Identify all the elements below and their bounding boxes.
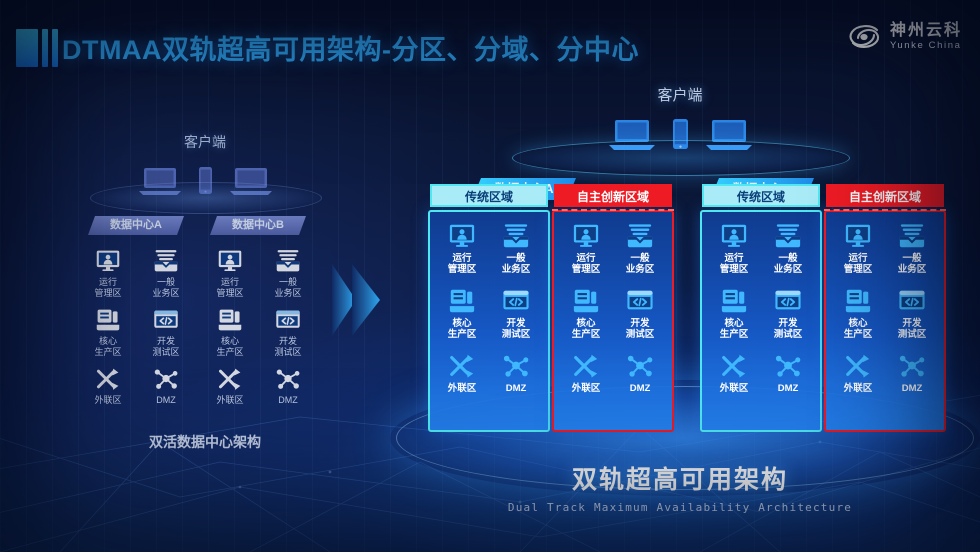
column-header: 传统区域 [702,184,820,207]
left-platform-ellipse [90,182,322,214]
node-cluster-icon [625,352,655,380]
column-header: 自主创新区域 [826,184,944,207]
zone-item[interactable]: 运行 管理区 [560,222,612,275]
zone-label: DMZ [506,383,527,394]
zone-label: DMZ [156,395,176,406]
left-datacenter-a-zones: 运行 管理区 一般 业务区 核心 生产区 开发 测试区 [82,248,192,406]
zone-label: 外联区 [94,395,121,406]
column-datacenter-b-innovation[interactable]: 自主创新区域 运行 管理区 一般 业务区 核心 生产区 [824,210,946,432]
zone-label: 核心 生产区 [94,336,121,358]
inbox-tray-icon [773,222,803,250]
zone-label: 一般 业务区 [502,253,531,275]
zone-label: 外联区 [844,383,873,394]
zone-item[interactable]: 运行 管理区 [436,222,488,275]
zone-label: 开发 测试区 [502,318,531,340]
zone-item[interactable]: 一般 业务区 [262,248,314,299]
monitor-person-icon [216,248,244,274]
inbox-tray-icon [501,222,531,250]
inbox-tray-icon [274,248,302,274]
zone-item[interactable]: 外联区 [708,352,760,394]
bottom-caption-en: Dual Track Maximum Availability Architec… [400,501,960,514]
zone-item[interactable]: DMZ [762,352,814,394]
zone-item[interactable]: 运行 管理区 [832,222,884,275]
zone-item[interactable]: 开发 测试区 [762,287,814,340]
slide-header: DTMAA双轨超高可用架构-分区、分域、分中心 神州云科 Yunke China [0,0,980,86]
zone-item[interactable]: 开发 测试区 [140,307,192,358]
zone-label: 一般 业务区 [274,277,301,299]
inbox-tray-icon [897,222,927,250]
node-cluster-icon [773,352,803,380]
zone-label: 一般 业务区 [898,253,927,275]
left-client-label: 客户端 [70,132,340,152]
zone-item[interactable]: 一般 业务区 [886,222,938,275]
bottom-caption: 双轨超高可用架构 Dual Track Maximum Availability… [400,460,960,514]
node-cluster-icon [501,352,531,380]
zone-label: DMZ [778,383,799,394]
zone-label: 外联区 [720,383,749,394]
column-datacenter-b-traditional[interactable]: 传统区域 运行 管理区 一般 业务区 核心 生产区 [700,210,822,432]
inbox-tray-icon [625,222,655,250]
bottom-caption-cn: 双轨超高可用架构 [400,460,960,496]
zone-label: 外联区 [572,383,601,394]
zone-item[interactable]: 外联区 [832,352,884,394]
zone-label: 运行 管理区 [94,277,121,299]
zone-item[interactable]: 外联区 [82,366,134,406]
zone-label: 外联区 [216,395,243,406]
zone-label: 核心 生产区 [216,336,243,358]
code-window-icon [274,307,302,333]
monitor-person-icon [94,248,122,274]
node-cluster-icon [897,352,927,380]
galaxy-spiral-icon [847,22,881,52]
zone-grid: 运行 管理区 一般 业务区 核心 生产区 开发 测试区 [560,222,666,394]
zone-label: DMZ [278,395,298,406]
zone-label: DMZ [902,383,923,394]
zone-item[interactable]: DMZ [140,366,192,406]
zone-label: 运行 管理区 [448,253,477,275]
zone-label: 运行 管理区 [572,253,601,275]
node-cluster-icon [152,366,180,392]
zone-label: 运行 管理区 [844,253,873,275]
zone-item[interactable]: DMZ [614,352,666,394]
zone-item[interactable]: 开发 测试区 [886,287,938,340]
code-window-icon [152,307,180,333]
zone-item[interactable]: 一般 业务区 [614,222,666,275]
brand-name-en: Yunke China [890,41,962,51]
zone-label: 开发 测试区 [626,318,655,340]
left-datacenter-a-tag: 数据中心A [88,216,184,235]
zone-label: 外联区 [448,383,477,394]
zone-item[interactable]: 一般 业务区 [490,222,542,275]
zone-label: 核心 生产区 [448,318,477,340]
column-header: 自主创新区域 [554,184,672,207]
zone-item[interactable]: 一般 业务区 [140,248,192,299]
crossing-arrows-icon [216,366,244,392]
page-title: DTMAA双轨超高可用架构-分区、分域、分中心 [62,28,639,67]
zone-item[interactable]: 核心 生产区 [832,287,884,340]
zone-label: 运行 管理区 [720,253,749,275]
left-datacenter-b-zones: 运行 管理区 一般 业务区 核心 生产区 开发 测试区 [204,248,314,406]
crossing-arrows-icon [94,366,122,392]
zone-label: 一般 业务区 [774,253,803,275]
zone-item[interactable]: 外联区 [560,352,612,394]
server-core-icon [94,307,122,333]
bars-logo-icon [16,29,58,67]
zone-item[interactable]: 核心 生产区 [204,307,256,358]
zone-item[interactable]: 运行 管理区 [82,248,134,299]
zone-item[interactable]: 核心 生产区 [708,287,760,340]
zone-item[interactable]: 核心 生产区 [436,287,488,340]
server-core-icon [843,287,873,315]
left-datacenter-b-tag: 数据中心B [210,216,306,235]
slide-canvas: DTMAA双轨超高可用架构-分区、分域、分中心 神州云科 Yunke China… [0,0,980,552]
server-core-icon [719,287,749,315]
zone-item[interactable]: DMZ [490,352,542,394]
monitor-person-icon [447,222,477,250]
zone-item[interactable]: DMZ [262,366,314,406]
server-core-icon [216,307,244,333]
column-datacenter-a-traditional[interactable]: 传统区域 运行 管理区 一般 业务区 核心 生产区 [428,210,550,432]
brand-logo: 神州云科 Yunke China [847,22,962,52]
zone-label: 开发 测试区 [274,336,301,358]
left-caption: 双活数据中心架构 [70,432,340,452]
zone-item[interactable]: DMZ [886,352,938,394]
code-window-icon [625,287,655,315]
code-window-icon [501,287,531,315]
server-core-icon [447,287,477,315]
server-core-icon [571,287,601,315]
zone-label: 运行 管理区 [216,277,243,299]
inbox-tray-icon [152,248,180,274]
brand-name-cn: 神州云科 [890,23,962,40]
right-client-label: 客户端 [550,84,810,105]
zone-item[interactable]: 外联区 [204,366,256,406]
monitor-person-icon [719,222,749,250]
crossing-arrows-icon [571,352,601,380]
zone-grid: 运行 管理区 一般 业务区 核心 生产区 开发 测试区 [708,222,814,394]
zone-label: 核心 生产区 [720,318,749,340]
double-chevron-right-icon [330,258,386,342]
code-window-icon [773,287,803,315]
zone-label: 开发 测试区 [774,318,803,340]
right-platform-ellipse [512,140,850,176]
column-header: 传统区域 [430,184,548,207]
monitor-person-icon [843,222,873,250]
legacy-architecture-diagram: 客户端 数据中心A 数据中心B [70,120,340,460]
zone-item[interactable]: 运行 管理区 [708,222,760,275]
zone-label: 一般 业务区 [626,253,655,275]
node-cluster-icon [274,366,302,392]
crossing-arrows-icon [447,352,477,380]
crossing-arrows-icon [843,352,873,380]
zone-item[interactable]: 外联区 [436,352,488,394]
zone-label: 核心 生产区 [572,318,601,340]
column-datacenter-a-innovation[interactable]: 自主创新区域 运行 管理区 一般 业务区 核心 生产区 [552,210,674,432]
zone-label: DMZ [630,383,651,394]
zone-label: 一般 业务区 [152,277,179,299]
zone-label: 开发 测试区 [898,318,927,340]
dual-track-architecture-diagram: 客户端 数据中心A 数据中心B 传统区域 [400,84,960,504]
zone-grid: 运行 管理区 一般 业务区 核心 生产区 开发 测试区 [436,222,542,394]
monitor-person-icon [571,222,601,250]
zone-item[interactable]: 一般 业务区 [762,222,814,275]
zone-label: 开发 测试区 [152,336,179,358]
crossing-arrows-icon [719,352,749,380]
zone-item[interactable]: 核心 生产区 [560,287,612,340]
zone-item[interactable]: 运行 管理区 [204,248,256,299]
zone-item[interactable]: 开发 测试区 [490,287,542,340]
zone-item[interactable]: 开发 测试区 [262,307,314,358]
zone-label: 核心 生产区 [844,318,873,340]
zone-item[interactable]: 核心 生产区 [82,307,134,358]
zone-grid: 运行 管理区 一般 业务区 核心 生产区 开发 测试区 [832,222,938,394]
code-window-icon [897,287,927,315]
zone-item[interactable]: 开发 测试区 [614,287,666,340]
